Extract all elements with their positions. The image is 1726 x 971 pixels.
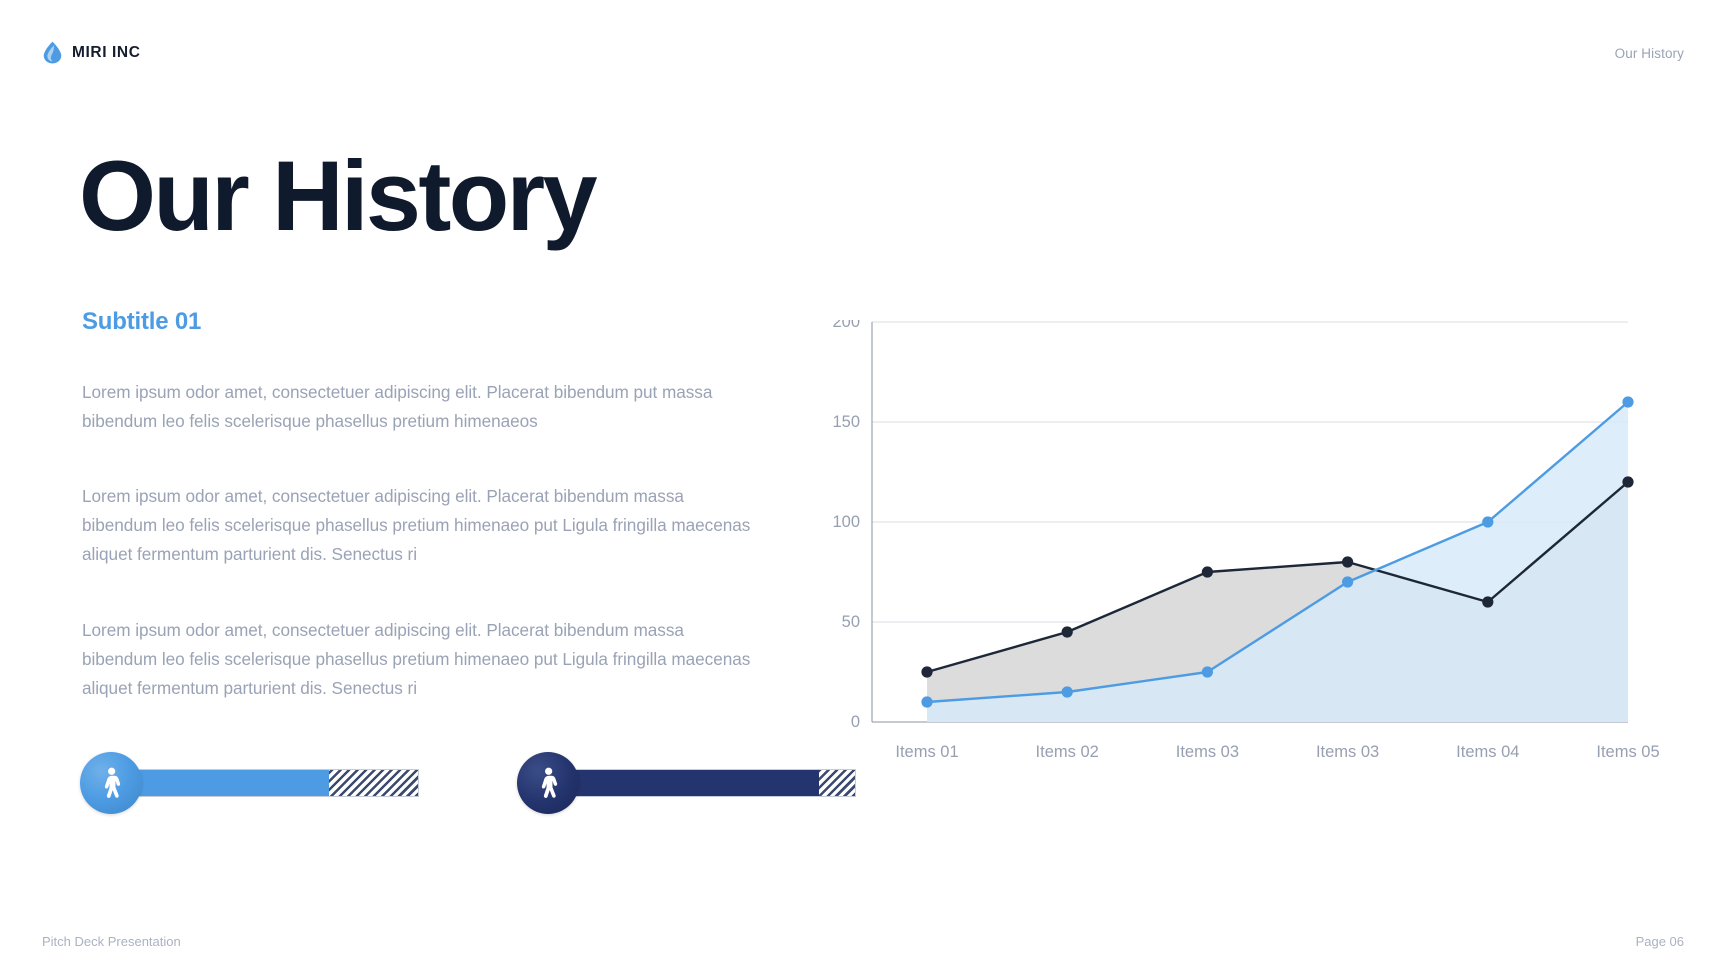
data-point-marker[interactable] (1062, 626, 1073, 637)
y-axis-tick-label: 200 (832, 320, 860, 331)
history-area-chart: 050100150200Items 01Items 02Items 03Item… (810, 320, 1690, 840)
data-point-marker[interactable] (1622, 396, 1633, 407)
x-axis-tick-label: Items 03 (1176, 743, 1239, 761)
data-point-marker[interactable] (921, 666, 932, 677)
y-axis-tick-label: 150 (832, 413, 860, 431)
pedestrian-walking-icon (535, 767, 561, 799)
y-axis-tick-label: 0 (851, 713, 860, 731)
data-point-marker[interactable] (921, 696, 932, 707)
body-paragraph-2: Lorem ipsum odor amet, consectetuer adip… (82, 482, 754, 569)
section-subtitle: Subtitle 01 (82, 308, 201, 336)
x-axis-tick-label: Items 03 (1316, 743, 1379, 761)
data-point-marker[interactable] (1622, 476, 1633, 487)
body-paragraph-1: Lorem ipsum odor amet, consectetuer adip… (82, 378, 754, 436)
progress-bar-1-track[interactable] (120, 769, 419, 797)
progress-bar-1-handle[interactable] (80, 752, 142, 814)
data-point-marker[interactable] (1342, 576, 1353, 587)
page-footer: Pitch Deck Presentation Page 06 (0, 911, 1726, 971)
data-point-marker[interactable] (1062, 686, 1073, 697)
body-paragraph-3: Lorem ipsum odor amet, consectetuer adip… (82, 616, 754, 703)
data-point-marker[interactable] (1482, 596, 1493, 607)
y-axis-tick-label: 100 (832, 513, 860, 531)
brand-name: MIRI INC (72, 44, 141, 62)
footer-deck-name: Pitch Deck Presentation (42, 934, 181, 949)
data-point-marker[interactable] (1482, 516, 1493, 527)
data-point-marker[interactable] (1202, 566, 1213, 577)
x-axis-tick-label: Items 01 (895, 743, 958, 761)
x-axis-tick-label: Items 02 (1036, 743, 1099, 761)
footer-page-number: Page 06 (1636, 934, 1684, 949)
progress-bar-1[interactable] (80, 752, 420, 814)
progress-bar-2-fill (558, 770, 819, 796)
x-axis-tick-label: Items 05 (1596, 743, 1659, 761)
water-drop-flame-icon (42, 41, 63, 64)
progress-bar-2-handle[interactable] (517, 752, 579, 814)
y-axis-tick-label: 50 (842, 613, 860, 631)
brand-logo: MIRI INC (42, 41, 141, 64)
progress-bar-group (80, 752, 780, 814)
pedestrian-walking-icon (98, 767, 124, 799)
page-header: MIRI INC Our History (0, 0, 1726, 100)
page-title: Our History (79, 146, 595, 245)
header-section-label: Our History (1615, 46, 1684, 61)
x-axis-tick-label: Items 04 (1456, 743, 1519, 761)
progress-bar-2[interactable] (517, 752, 857, 814)
progress-bar-1-fill (121, 770, 329, 796)
area-chart-canvas: 050100150200Items 01Items 02Items 03Item… (810, 320, 1690, 840)
data-point-marker[interactable] (1202, 666, 1213, 677)
data-point-marker[interactable] (1342, 556, 1353, 567)
